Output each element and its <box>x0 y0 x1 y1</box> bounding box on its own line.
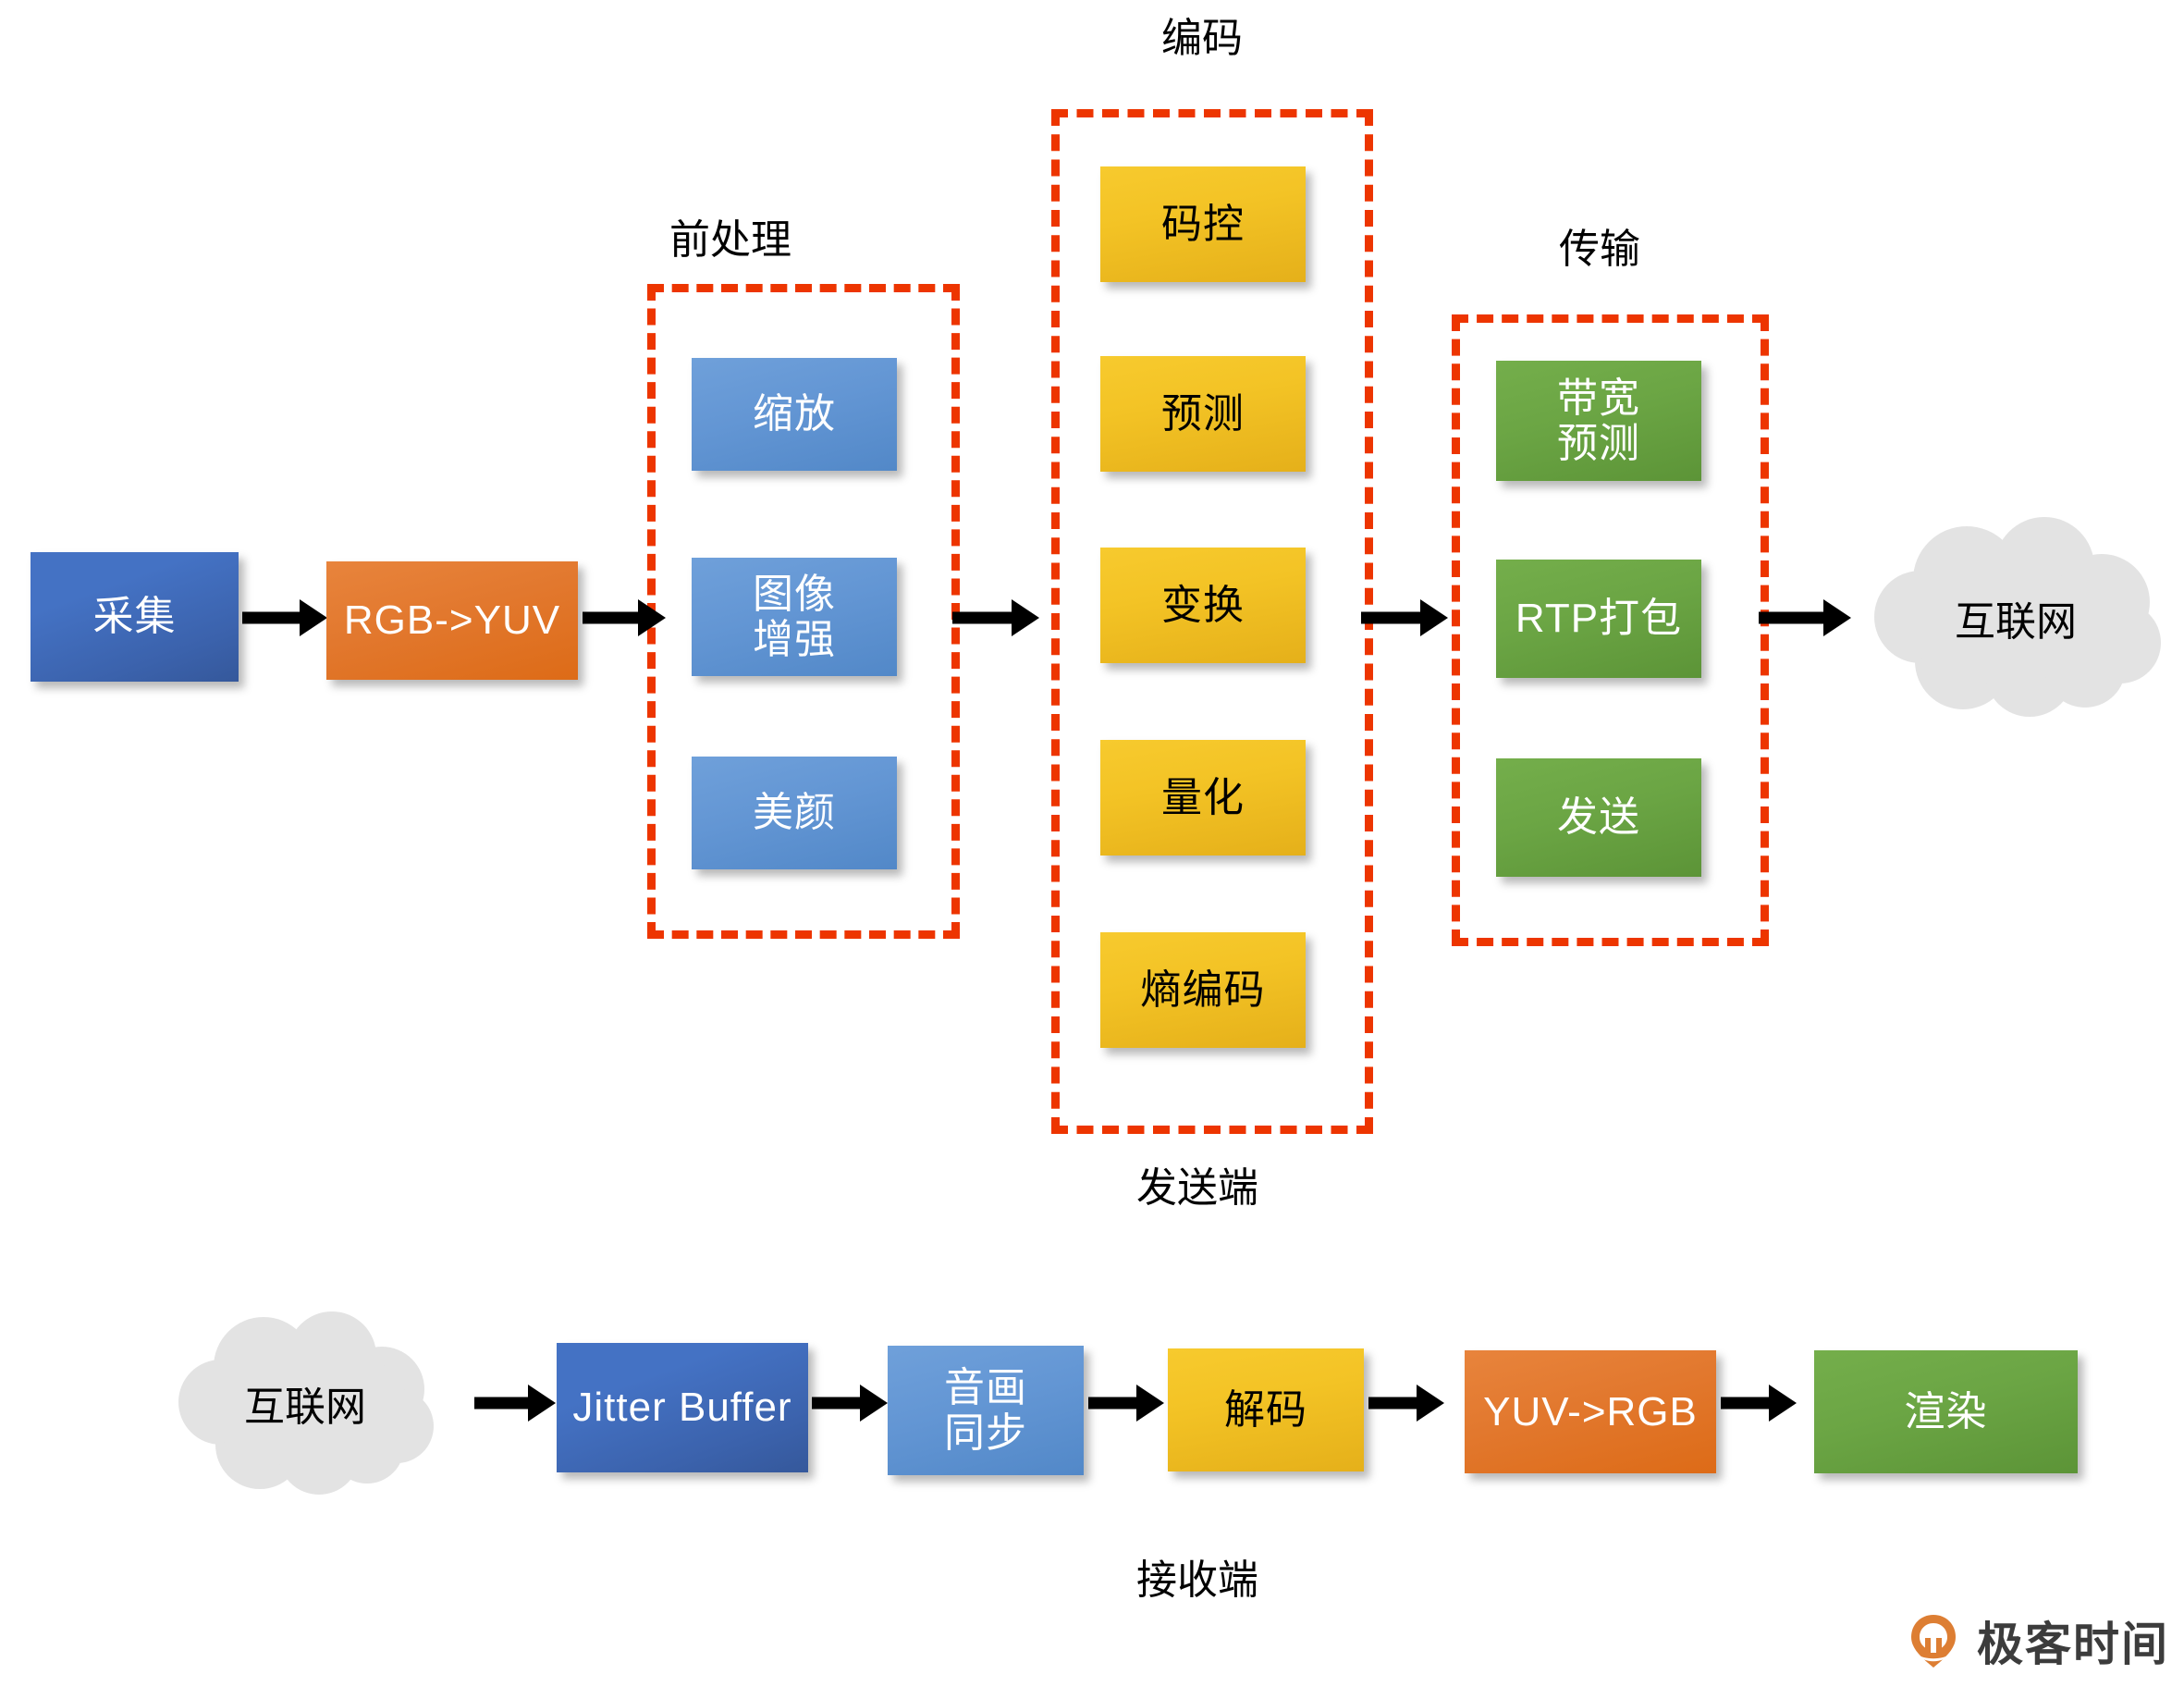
box-av-sync[interactable]: 音画 同步 <box>888 1346 1084 1475</box>
arrow-jitterbuffer-to-avsync <box>812 1384 888 1422</box>
cloud-internet-receiver-label: 互联网 <box>171 1373 439 1433</box>
box-decode[interactable]: 解码 <box>1168 1348 1364 1471</box>
arrow-capture-to-rgb2yuv <box>242 598 327 637</box>
box-rgb-to-yuv[interactable]: RGB->YUV <box>326 561 578 680</box>
arrow-internet-to-jitterbuffer <box>474 1384 556 1422</box>
cloud-internet-sender-label: 互联网 <box>1863 588 2168 647</box>
group-caption-encode: 编码 <box>1082 18 1322 59</box>
box-bandwidth-estimation[interactable]: 带宽 预测 <box>1496 361 1701 481</box>
receiver-section-caption: 接收端 <box>1059 1546 1336 1606</box>
box-capture[interactable]: 采集 <box>31 552 239 682</box>
brand-logo: 极客时间 <box>1905 1607 2169 1674</box>
cloud-internet-receiver: 互联网 <box>171 1306 439 1500</box>
geektime-pin-icon <box>1905 1612 1962 1669</box>
cloud-internet-sender: 互联网 <box>1863 513 2168 721</box>
box-jitter-buffer[interactable]: Jitter Buffer <box>557 1343 808 1472</box>
arrow-preprocess-to-encode <box>952 598 1039 637</box>
box-render[interactable]: 渲染 <box>1814 1350 2078 1473</box>
box-yuv-to-rgb[interactable]: YUV->RGB <box>1465 1350 1716 1473</box>
brand-name: 极客时间 <box>1977 1607 2169 1674</box>
box-rtp-packetize[interactable]: RTP打包 <box>1496 560 1701 678</box>
arrow-yuv2rgb-to-render <box>1721 1384 1797 1422</box>
box-rate-control[interactable]: 码控 <box>1100 166 1306 282</box>
diagram-canvas: 编码 前处理 传输 采集 RGB->YUV 缩放 图像 增强 美颜 码控 预测 … <box>0 0 2184 1699</box>
box-quantization[interactable]: 量化 <box>1100 740 1306 856</box>
box-transform[interactable]: 变换 <box>1100 548 1306 663</box>
group-caption-preprocess: 前处理 <box>610 220 851 261</box>
box-prediction[interactable]: 预测 <box>1100 356 1306 472</box>
box-beauty[interactable]: 美颜 <box>692 757 897 869</box>
arrow-decode-to-yuv2rgb <box>1368 1384 1444 1422</box>
group-caption-transport: 传输 <box>1479 229 1720 270</box>
box-entropy-coding[interactable]: 熵编码 <box>1100 932 1306 1048</box>
box-scale[interactable]: 缩放 <box>692 358 897 471</box>
arrow-transport-to-internet <box>1759 598 1851 637</box>
box-image-enhance[interactable]: 图像 增强 <box>692 558 897 676</box>
arrow-encode-to-transport <box>1361 598 1448 637</box>
arrow-rgb2yuv-to-preprocess <box>583 598 666 637</box>
arrow-avsync-to-decode <box>1088 1384 1164 1422</box>
sender-section-caption: 发送端 <box>1059 1154 1336 1213</box>
box-send[interactable]: 发送 <box>1496 758 1701 877</box>
